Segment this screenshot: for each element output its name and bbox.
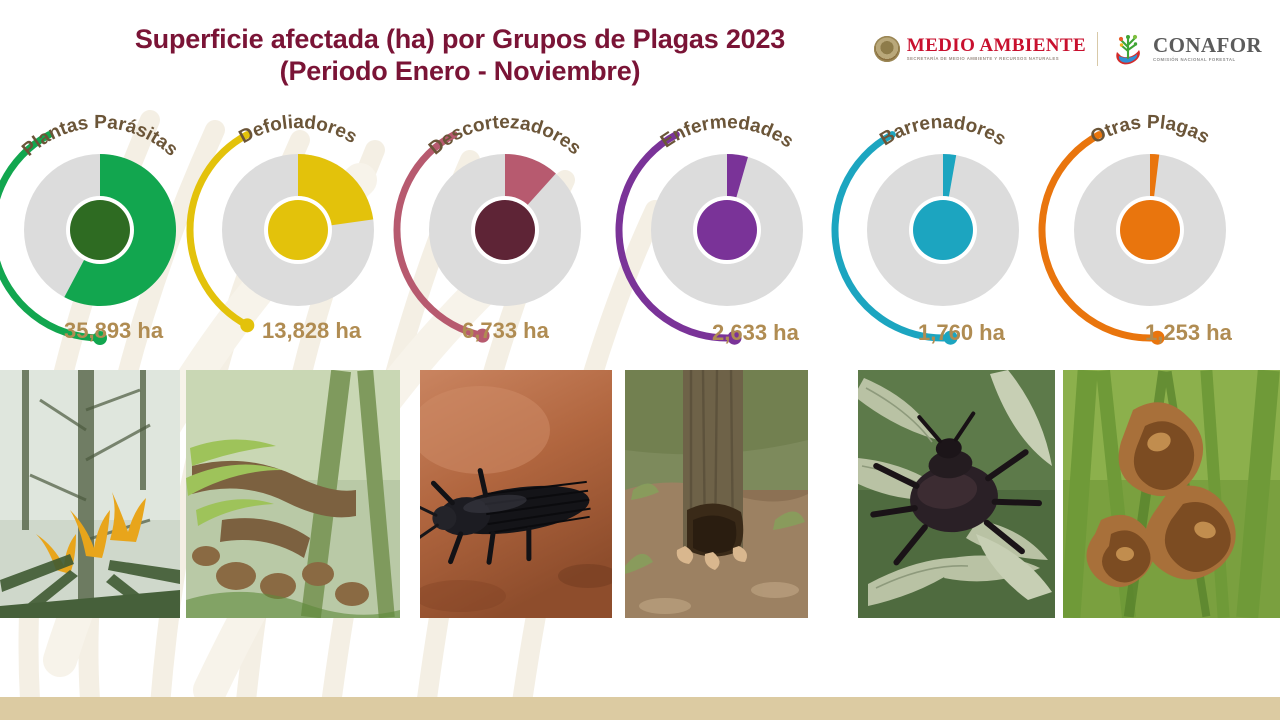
semarnat-logo-title: MEDIO AMBIENTE (907, 36, 1086, 55)
gauge-label: Otras Plagas (1087, 112, 1213, 149)
title-line-1: Superficie afectada (ha) por Grupos de P… (30, 24, 890, 56)
gauge-value-label: 1,760 ha (918, 320, 1005, 346)
gauge-label: Plantas Parásitas (18, 112, 182, 161)
photo-other-pests-damaged-stems (1063, 370, 1280, 618)
gauge-descortezadores: Descortezadores6,733 ha (390, 100, 620, 368)
conafor-logo-subtitle: COMISIÓN NACIONAL FORESTAL (1153, 58, 1262, 62)
photo-strip (0, 370, 1280, 618)
page-title: Superficie afectada (ha) por Grupos de P… (30, 24, 890, 88)
conafor-logo: CONAFOR COMISIÓN NACIONAL FORESTAL (1109, 30, 1262, 68)
gauge-value-label: 13,828 ha (262, 318, 361, 344)
gauge-hub (697, 200, 757, 260)
gauge-value-label: 35,893 ha (64, 318, 163, 344)
gauge-hub (913, 200, 973, 260)
gauge-value-label: 1,253 ha (1145, 320, 1232, 346)
gauge-enfermedades: Enfermedades2,633 ha (612, 100, 842, 368)
gauge-otras-plagas: Otras Plagas1,253 ha (1035, 100, 1265, 368)
gauge-label: Descortezadores (425, 112, 585, 159)
gauge-label: Defoliadores (236, 112, 361, 148)
gauge-label: Enfermedades (657, 112, 797, 153)
gauge-hub (475, 200, 535, 260)
footer-bar (0, 697, 1280, 720)
photo-bark-beetle-closeup (420, 370, 612, 618)
mexico-eagle-seal-icon (874, 36, 900, 62)
logo-group: MEDIO AMBIENTE SECRETARÍA DE MEDIO AMBIE… (874, 20, 1262, 78)
gauge-row: Plantas Parásitas35,893 haDefoliadores13… (0, 100, 1280, 368)
gauge-label: Barrenadores (876, 112, 1009, 150)
infographic-root: Superficie afectada (ha) por Grupos de P… (0, 0, 1280, 720)
title-line-2: (Periodo Enero - Noviembre) (30, 56, 890, 88)
conafor-tree-icon (1109, 30, 1147, 68)
gauge-defoliadores: Defoliadores13,828 ha (183, 100, 413, 368)
header: Superficie afectada (ha) por Grupos de P… (0, 0, 1280, 100)
gauge-hub (1120, 200, 1180, 260)
semarnat-logo-subtitle: SECRETARÍA DE MEDIO AMBIENTE Y RECURSOS … (907, 57, 1086, 61)
conafor-logo-title: CONAFOR (1153, 35, 1262, 56)
gauge-hub (268, 200, 328, 260)
gauge-hub (70, 200, 130, 260)
photo-diseased-tree-trunk-base (625, 370, 808, 618)
photo-borer-beetle-on-agave (858, 370, 1055, 618)
photo-defoliator-larvae-on-branch (186, 370, 400, 618)
photo-parasitic-plant-mistletoe-on-pine (0, 370, 180, 618)
gauge-value-label: 2,633 ha (712, 320, 799, 346)
gauge-value-label: 6,733 ha (462, 318, 549, 344)
gauge-arc-endpoint-dot (240, 318, 254, 332)
gauge-barrenadores: Barrenadores1,760 ha (828, 100, 1058, 368)
logo-divider (1097, 32, 1098, 66)
semarnat-logo: MEDIO AMBIENTE SECRETARÍA DE MEDIO AMBIE… (874, 36, 1086, 62)
